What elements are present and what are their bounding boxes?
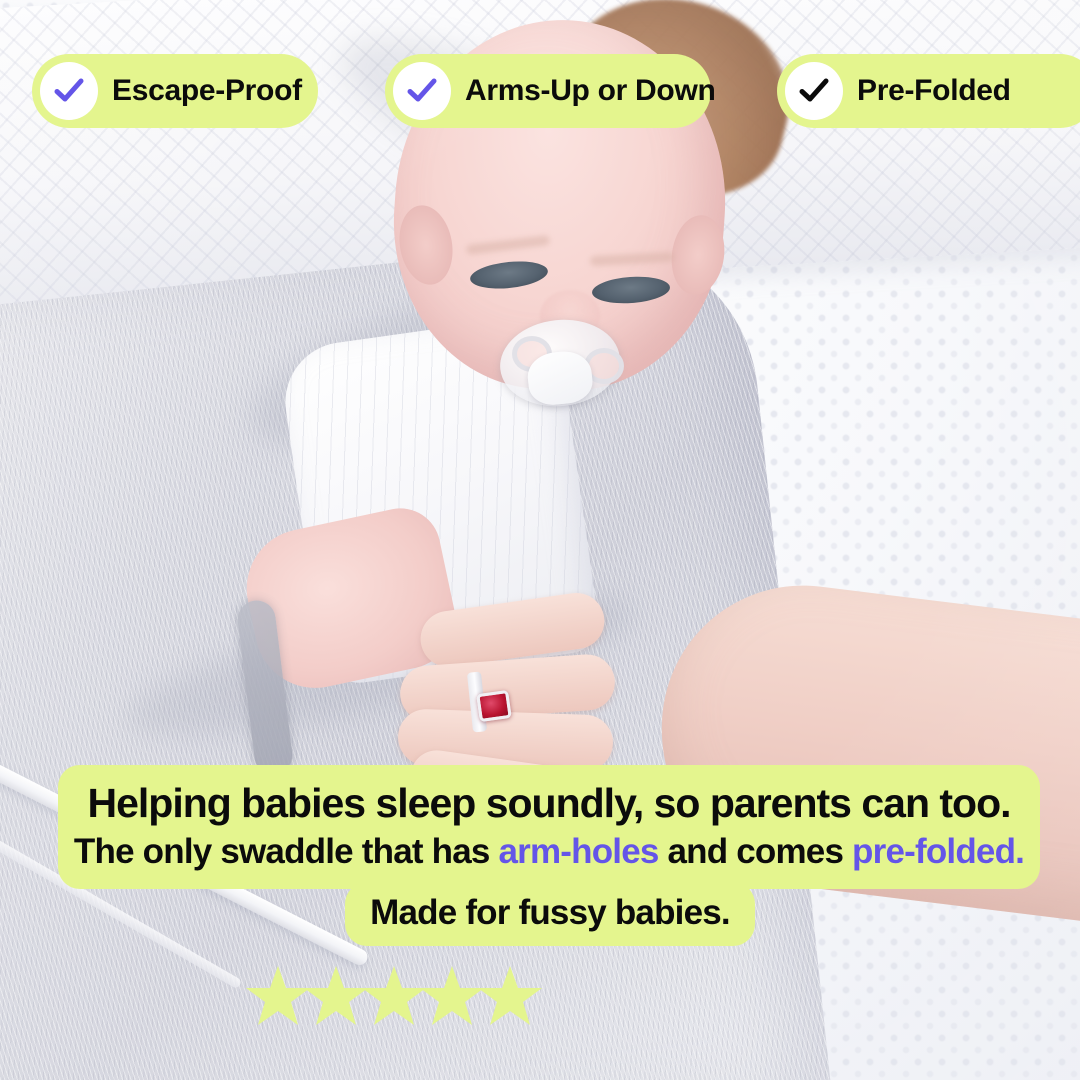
star-icon bbox=[304, 964, 368, 1026]
subheadline-highlight-arm-holes: arm-holes bbox=[498, 832, 658, 871]
feature-badge-label: Arms-Up or Down bbox=[465, 74, 716, 108]
tagline: Made for fussy babies. bbox=[345, 892, 755, 934]
star-icon bbox=[420, 964, 484, 1026]
product-ad-image: Escape-Proof Arms-Up or Down Pre-Folded … bbox=[0, 0, 1080, 1080]
star-icon bbox=[246, 964, 310, 1026]
ruby-ring-stone bbox=[476, 690, 512, 722]
reviews-row: 1,238+ 5 Star Reviews bbox=[0, 960, 1080, 1050]
subheadline-part-1: The only swaddle that has bbox=[74, 832, 499, 871]
check-icon bbox=[40, 62, 98, 120]
headline-block: Helping babies sleep soundly, so parents… bbox=[58, 765, 1040, 889]
feature-badge-row: Escape-Proof Arms-Up or Down Pre-Folded bbox=[0, 54, 1080, 128]
subheadline-part-2: and comes bbox=[659, 832, 853, 871]
check-icon bbox=[393, 62, 451, 120]
subheadline: The only swaddle that has arm-holes and … bbox=[58, 831, 1040, 873]
check-icon bbox=[785, 62, 843, 120]
feature-badge-pre-folded[interactable]: Pre-Folded bbox=[777, 54, 1080, 128]
tagline-pill: Made for fussy babies. bbox=[345, 882, 755, 946]
star-icon bbox=[362, 964, 426, 1026]
page-title: Helping babies sleep soundly, so parents… bbox=[58, 779, 1040, 827]
subheadline-highlight-pre-folded: pre-folded. bbox=[852, 832, 1024, 871]
feature-badge-label: Pre-Folded bbox=[857, 74, 1011, 108]
feature-badge-arms-up-or-down[interactable]: Arms-Up or Down bbox=[385, 54, 711, 128]
feature-badge-label: Escape-Proof bbox=[112, 74, 302, 108]
star-icon bbox=[478, 964, 542, 1026]
feature-badge-escape-proof[interactable]: Escape-Proof bbox=[32, 54, 318, 128]
star-rating bbox=[246, 964, 536, 1026]
